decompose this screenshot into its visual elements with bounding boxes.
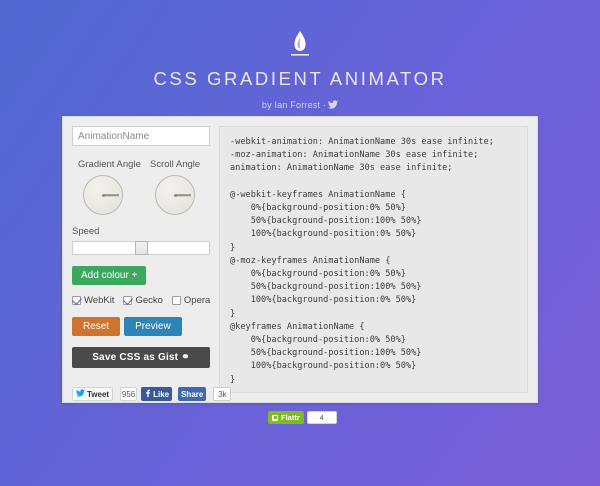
controls-column: Gradient Angle Scroll Angle Speed Add co… [72,126,210,393]
save-gist-button[interactable]: Save CSS as Gist ⚭ [72,347,210,368]
byline: by Ian Forrest · [0,100,600,111]
preview-button[interactable]: Preview [124,317,182,336]
add-colour-button[interactable]: Add colour + [72,266,146,285]
facebook-like-label: Like [153,390,169,399]
gradient-angle-dial[interactable] [83,175,123,215]
checkbox-box-icon[interactable] [172,296,181,305]
checkbox-opera-label: Opera [184,295,210,306]
checkbox-gecko[interactable]: Gecko [123,295,162,306]
flattr-count: 4 [307,411,337,424]
save-gist-label: Save CSS as Gist [92,352,178,363]
checkbox-gecko-label: Gecko [135,295,162,306]
social-bar: Tweet 956 Like Share 3k [72,387,210,401]
gradient-angle-label: Gradient Angle [78,159,128,170]
scroll-angle-dial[interactable] [155,175,195,215]
flattr-button[interactable]: Flattr [268,411,304,424]
flame-icon [285,28,315,60]
browser-prefix-options: WebKit Gecko Opera [72,295,210,306]
checkbox-box-icon[interactable] [72,296,81,305]
css-output-code: -webkit-animation: AnimationName 30s eas… [230,136,517,387]
facebook-like-button[interactable]: Like [141,387,172,401]
page-header: CSS GRADIENT ANIMATOR by Ian Forrest · [0,0,600,111]
facebook-share-button[interactable]: Share [178,387,206,401]
speed-label: Speed [72,226,210,237]
speed-slider[interactable] [72,241,210,255]
gradient-angle-control: Gradient Angle [78,159,128,215]
animation-name-input[interactable] [72,126,210,146]
flattr-widget: Flattr 4 [268,411,337,424]
twitter-bird-icon[interactable] [328,100,338,111]
checkbox-box-icon[interactable] [123,296,132,305]
scroll-angle-control: Scroll Angle [150,159,200,215]
github-mark-icon: ⚭ [181,352,190,363]
flattr-icon [272,415,278,421]
action-button-row: Reset Preview [72,317,210,336]
speed-slider-thumb[interactable] [135,241,148,255]
checkbox-opera[interactable]: Opera [172,295,210,306]
dial-hub-icon [174,194,177,197]
dial-row: Gradient Angle Scroll Angle [72,159,210,215]
tweet-label: Tweet [87,390,109,399]
app-panel: Gradient Angle Scroll Angle Speed Add co… [62,116,538,403]
reset-button[interactable]: Reset [72,317,120,336]
tweet-count: 956 [120,387,137,401]
tweet-button[interactable]: Tweet [72,387,113,401]
dial-pointer-icon [175,194,191,196]
byline-text: by Ian Forrest · [262,100,326,110]
flattr-label: Flattr [281,413,300,422]
page-title: CSS GRADIENT ANIMATOR [0,66,600,90]
checkbox-webkit-label: WebKit [84,295,114,306]
facebook-f-icon [144,389,151,399]
twitter-bird-icon [76,389,85,399]
checkbox-webkit[interactable]: WebKit [72,295,114,306]
dial-hub-icon [102,194,105,197]
dial-pointer-icon [103,194,119,196]
css-output-panel[interactable]: -webkit-animation: AnimationName 30s eas… [219,126,528,393]
scroll-angle-label: Scroll Angle [150,159,200,170]
facebook-share-count: 3k [213,387,231,401]
